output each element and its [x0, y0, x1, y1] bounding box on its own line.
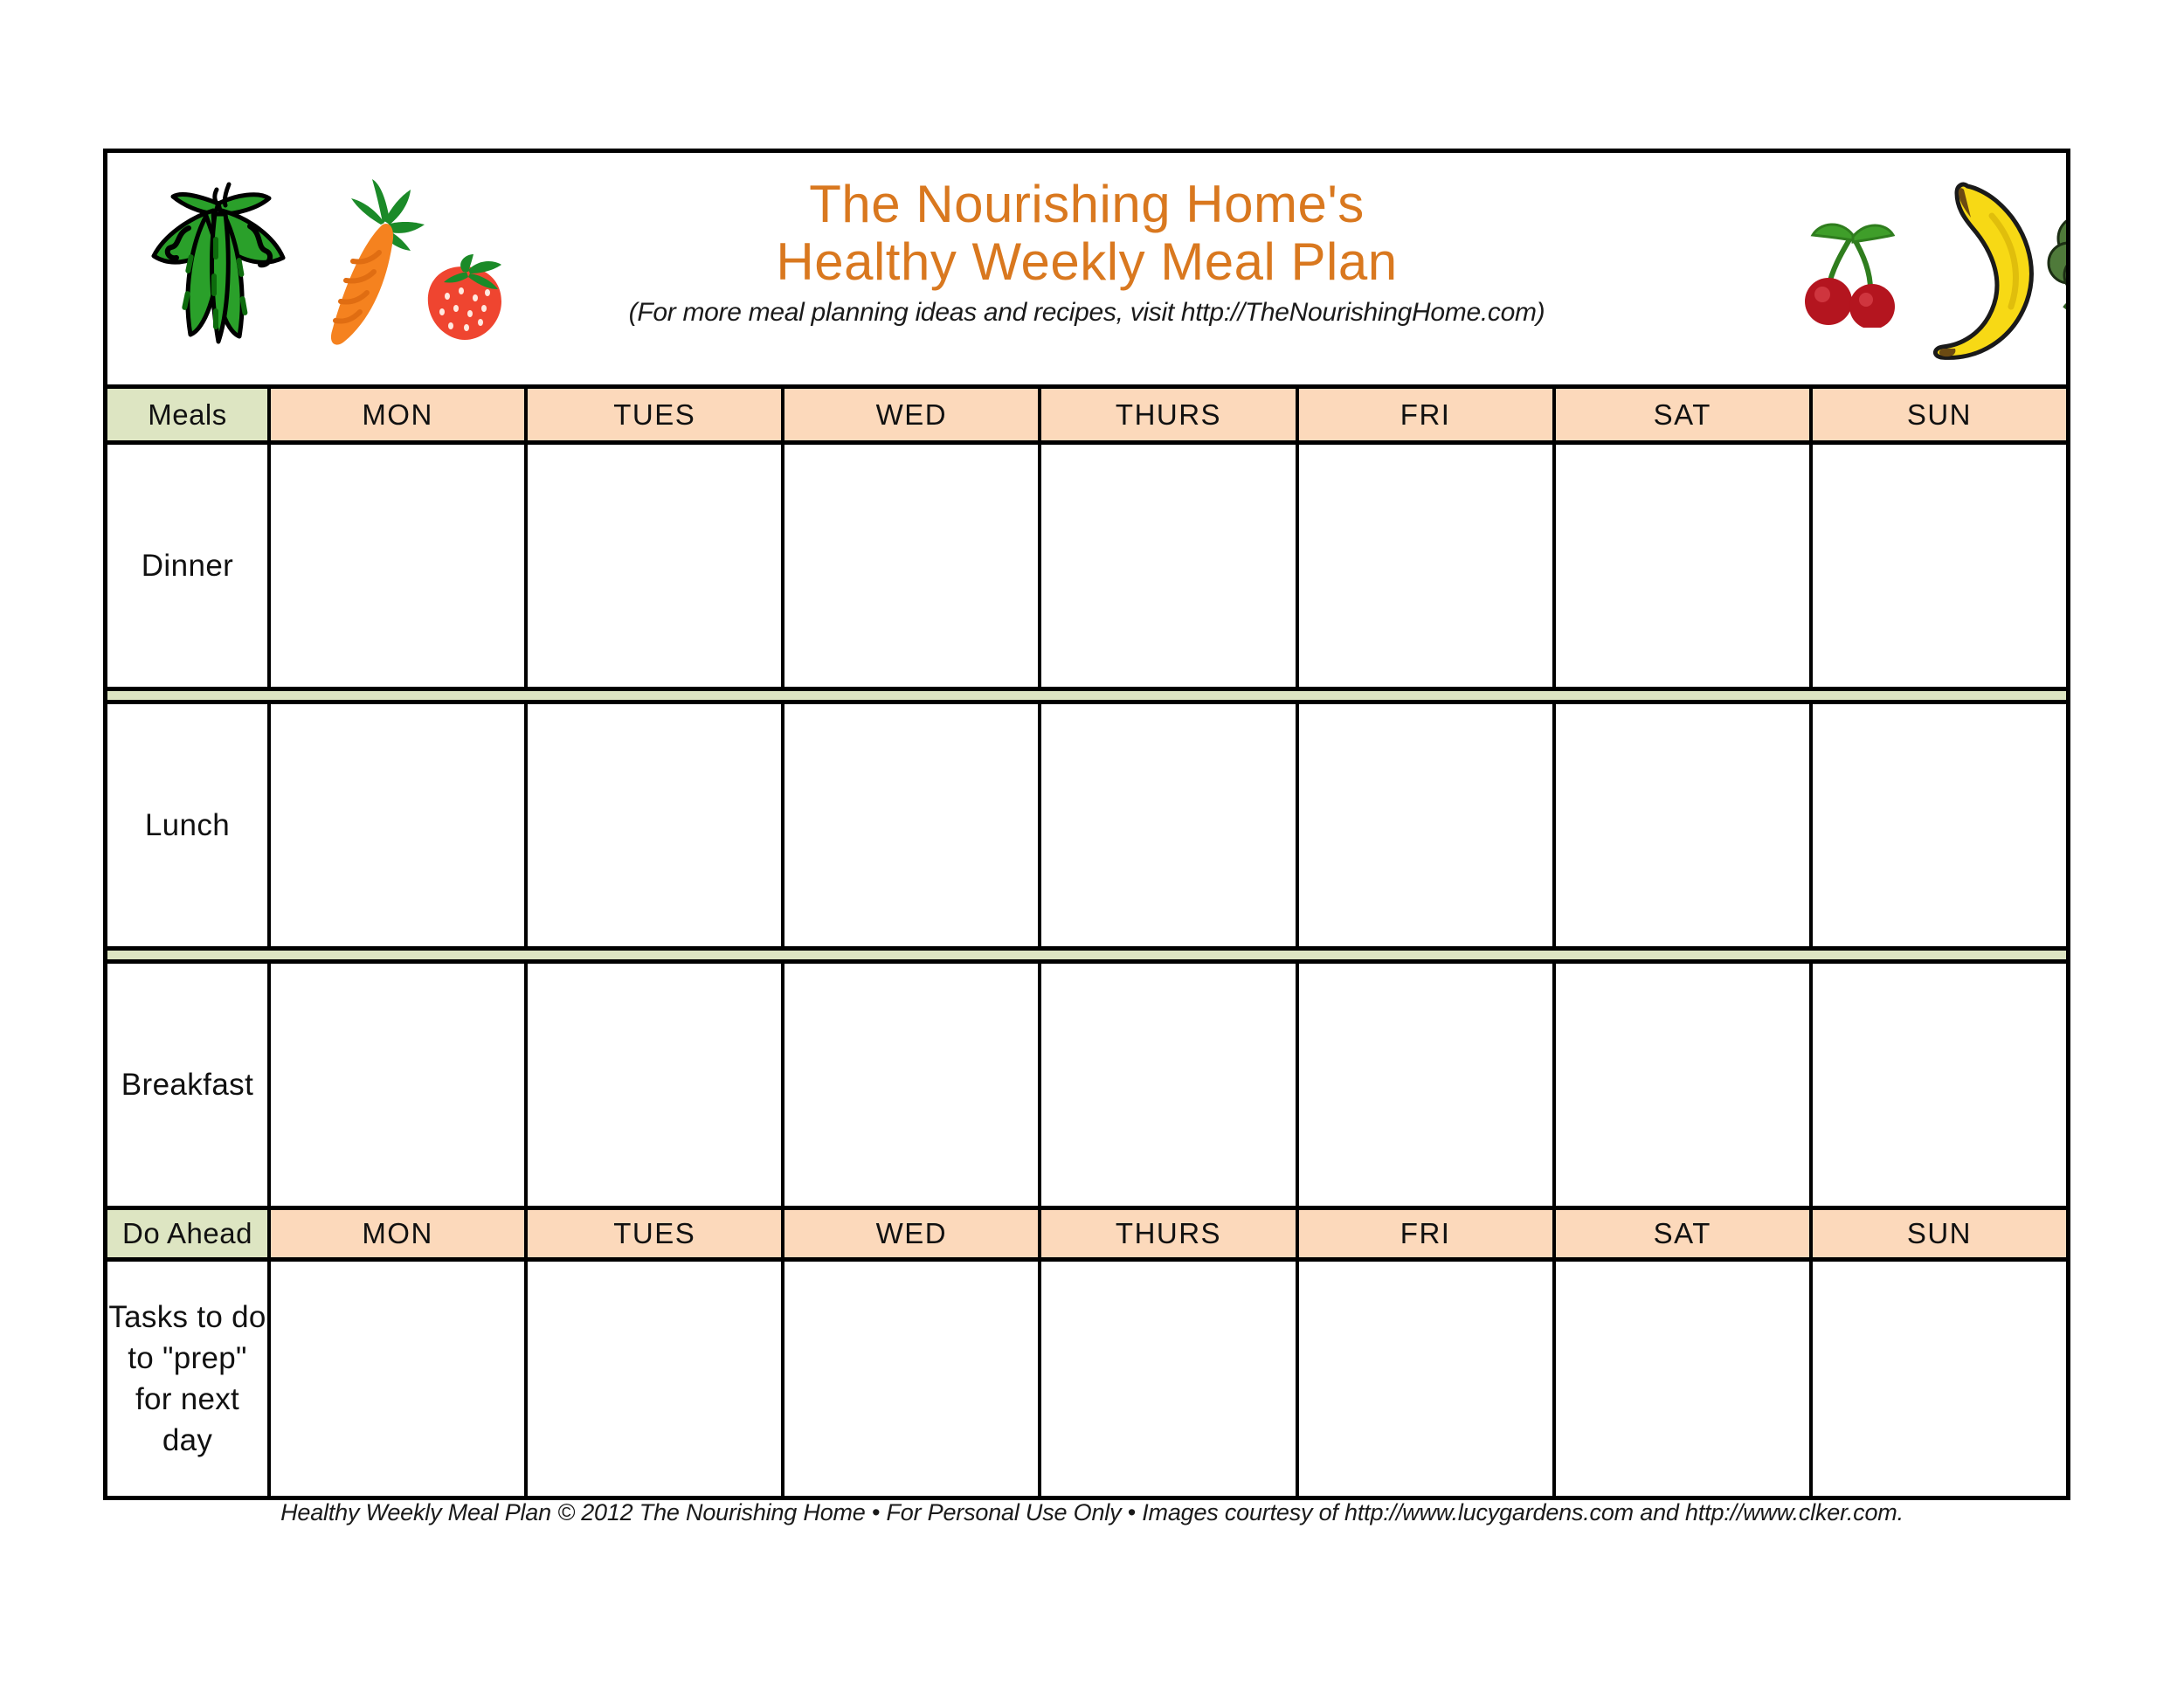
tasks-sun-cell[interactable] — [1813, 1262, 2066, 1496]
table-row-tasks: Tasks to do to "prep" for next day — [107, 1262, 2066, 1496]
do-ahead-header-label: Do Ahead — [107, 1210, 271, 1257]
meals-header-label: Meals — [107, 389, 271, 440]
tasks-label-line-4: day — [108, 1420, 266, 1461]
table-row-dinner: Dinner — [107, 445, 2066, 687]
header-banner: The Nourishing Home's Healthy Weekly Mea… — [107, 153, 2066, 389]
meals-header-wed: WED — [784, 389, 1041, 440]
do-ahead-header-wed: WED — [784, 1210, 1041, 1257]
dinner-mon-cell[interactable] — [271, 445, 528, 687]
do-ahead-header-thurs: THURS — [1041, 1210, 1298, 1257]
lunch-fri-cell[interactable] — [1299, 704, 1556, 946]
breakfast-mon-cell[interactable] — [271, 964, 528, 1206]
dinner-thurs-cell[interactable] — [1041, 445, 1298, 687]
tasks-thurs-cell[interactable] — [1041, 1262, 1298, 1496]
do-ahead-header-tues: TUES — [528, 1210, 784, 1257]
tasks-label-line-2: to "prep" — [108, 1338, 266, 1379]
breakfast-sun-cell[interactable] — [1813, 964, 2066, 1206]
breakfast-tues-cell[interactable] — [528, 964, 784, 1206]
tasks-tues-cell[interactable] — [528, 1262, 784, 1496]
dinner-wed-cell[interactable] — [784, 445, 1041, 687]
meals-header-fri: FRI — [1299, 389, 1556, 440]
dinner-fri-cell[interactable] — [1299, 445, 1556, 687]
meal-plan-page: The Nourishing Home's Healthy Weekly Mea… — [0, 0, 2184, 1688]
lunch-thurs-cell[interactable] — [1041, 704, 1298, 946]
row-label-lunch: Lunch — [107, 704, 271, 946]
meals-header-sun: SUN — [1813, 389, 2066, 440]
breakfast-sat-cell[interactable] — [1556, 964, 1813, 1206]
do-ahead-header-row: Do Ahead MON TUES WED THURS FRI SAT SUN — [107, 1206, 2066, 1262]
meals-header-mon: MON — [271, 389, 528, 440]
row-label-dinner: Dinner — [107, 445, 271, 687]
lunch-mon-cell[interactable] — [271, 704, 528, 946]
dinner-sat-cell[interactable] — [1556, 445, 1813, 687]
row-label-breakfast: Breakfast — [107, 964, 271, 1206]
table-row-lunch: Lunch — [107, 704, 2066, 946]
lunch-wed-cell[interactable] — [784, 704, 1041, 946]
dinner-tues-cell[interactable] — [528, 445, 784, 687]
tasks-label-line-3: for next — [108, 1379, 266, 1420]
breakfast-wed-cell[interactable] — [784, 964, 1041, 1206]
pea-pods-icon — [138, 170, 300, 354]
footer-copyright: Healthy Weekly Meal Plan © 2012 The Nour… — [0, 1499, 2184, 1526]
row-label-tasks: Tasks to do to "prep" for next day — [107, 1262, 271, 1496]
do-ahead-header-mon: MON — [271, 1210, 528, 1257]
meals-header-thurs: THURS — [1041, 389, 1298, 440]
row-divider-strip-1 — [107, 687, 2066, 704]
lunch-tues-cell[interactable] — [528, 704, 784, 946]
meals-header-sat: SAT — [1556, 389, 1813, 440]
do-ahead-header-sat: SAT — [1556, 1210, 1813, 1257]
strawberry-icon — [418, 247, 514, 348]
tasks-fri-cell[interactable] — [1299, 1262, 1556, 1496]
tasks-mon-cell[interactable] — [271, 1262, 528, 1496]
tasks-label-line-1: Tasks to do — [108, 1297, 266, 1338]
dinner-sun-cell[interactable] — [1813, 445, 2066, 687]
broccoli-icon — [2042, 177, 2066, 365]
meals-header-row: Meals MON TUES WED THURS FRI SAT SUN — [107, 389, 2066, 445]
do-ahead-header-fri: FRI — [1299, 1210, 1556, 1257]
meals-header-tues: TUES — [528, 389, 784, 440]
do-ahead-header-sun: SUN — [1813, 1210, 2066, 1257]
cherries-icon — [1802, 214, 1907, 328]
tasks-wed-cell[interactable] — [784, 1262, 1041, 1496]
meal-plan-sheet: The Nourishing Home's Healthy Weekly Mea… — [103, 149, 2070, 1500]
carrot-icon — [321, 170, 431, 354]
tasks-sat-cell[interactable] — [1556, 1262, 1813, 1496]
row-divider-strip-2 — [107, 946, 2066, 964]
breakfast-thurs-cell[interactable] — [1041, 964, 1298, 1206]
breakfast-fri-cell[interactable] — [1299, 964, 1556, 1206]
table-row-breakfast: Breakfast — [107, 964, 2066, 1206]
banana-icon — [1929, 177, 2042, 365]
lunch-sun-cell[interactable] — [1813, 704, 2066, 946]
lunch-sat-cell[interactable] — [1556, 704, 1813, 946]
